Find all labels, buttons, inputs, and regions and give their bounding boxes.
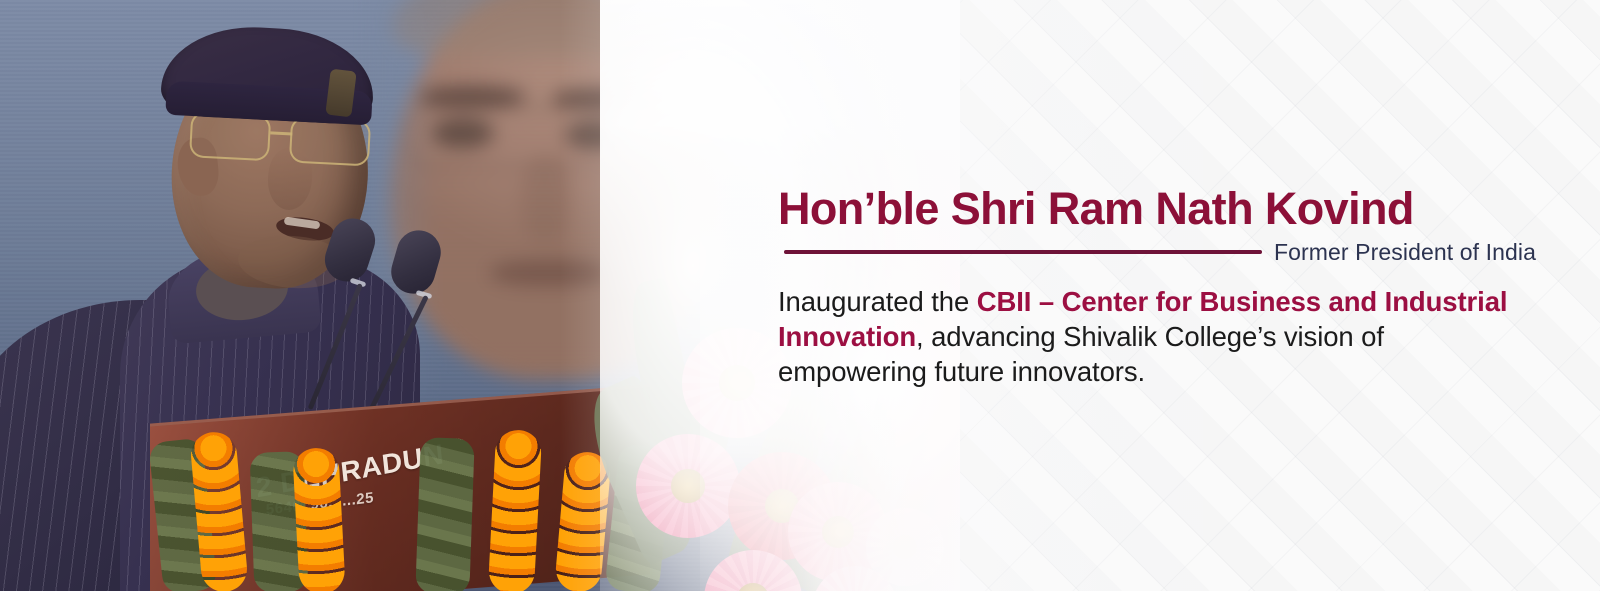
page-title: Hon’ble Shri Ram Nath Kovind [778, 186, 1548, 233]
subtitle-row: Former President of India [784, 239, 1536, 266]
subtitle-designation: Former President of India [1274, 239, 1536, 266]
banner-root: 2 DEHRADUN 5646, 96......25 [0, 0, 1600, 591]
leaf-garland-3 [415, 437, 474, 591]
divider-rule [784, 250, 1262, 254]
cap-badge [325, 69, 356, 118]
marigold-garland-3 [488, 429, 543, 591]
description-lead: Inaugurated the [778, 286, 977, 317]
microphone-icon-2 [386, 225, 446, 299]
text-content-block: Hon’ble Shri Ram Nath Kovind Former Pres… [778, 186, 1548, 389]
microphone-gooseneck-1 [308, 283, 363, 410]
marigold-garland-2 [292, 447, 346, 591]
microphone-icon-1 [319, 213, 381, 287]
description-paragraph: Inaugurated the CBII – Center for Busine… [778, 284, 1540, 390]
eyeglass-bridge [270, 131, 292, 135]
